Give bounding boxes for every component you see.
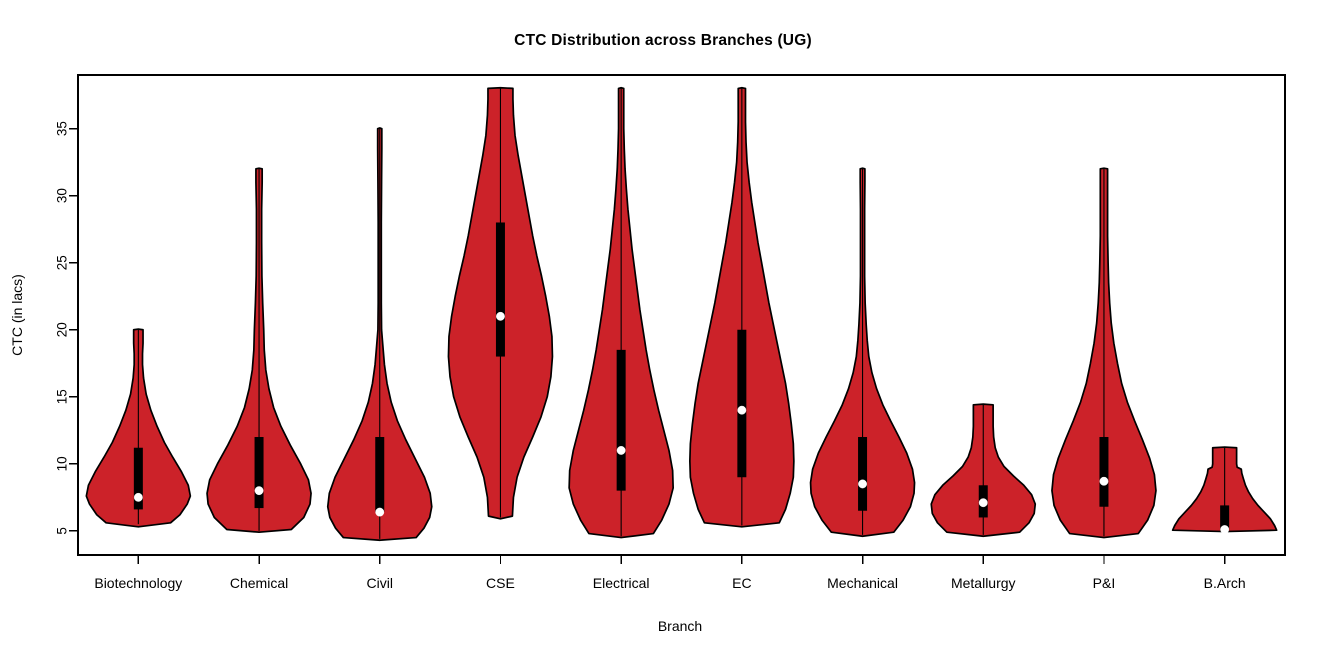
x-tick-label-ec: EC bbox=[732, 575, 751, 591]
x-tick-label-civil: Civil bbox=[367, 575, 393, 591]
violin-median-point bbox=[1100, 477, 1108, 485]
violin-iqr-box bbox=[737, 330, 746, 477]
x-tick-label-chemical: Chemical bbox=[230, 575, 288, 591]
violin-iqr-box bbox=[617, 350, 626, 491]
y-tick-label: 25 bbox=[55, 255, 70, 270]
violin-median-point bbox=[496, 312, 504, 320]
violin-iqr-box bbox=[255, 437, 264, 508]
violin-plot-figure: CTC Distribution across Branches (UG) CT… bbox=[0, 0, 1327, 653]
y-tick-label: 35 bbox=[55, 121, 70, 136]
violin-median-point bbox=[617, 446, 625, 454]
y-tick-label: 20 bbox=[55, 322, 70, 337]
y-tick-label: 30 bbox=[55, 188, 70, 203]
violin-median-point bbox=[979, 499, 987, 507]
x-tick-label-metallurgy: Metallurgy bbox=[951, 575, 1016, 591]
violin-iqr-box bbox=[858, 437, 867, 511]
y-tick-label: 5 bbox=[55, 527, 70, 535]
violin-median-point bbox=[134, 493, 142, 501]
violin-median-point bbox=[376, 508, 384, 516]
x-tick-label-mechanical: Mechanical bbox=[827, 575, 898, 591]
x-tick-label-p-i: P&I bbox=[1093, 575, 1116, 591]
violin-iqr-box bbox=[1099, 437, 1108, 507]
violin-median-point bbox=[1220, 525, 1228, 533]
chart-title: CTC Distribution across Branches (UG) bbox=[514, 32, 812, 49]
y-tick-label: 15 bbox=[55, 389, 70, 404]
x-tick-label-biotechnology: Biotechnology bbox=[94, 575, 182, 591]
chart-canvas: CTC Distribution across Branches (UG) CT… bbox=[0, 0, 1327, 653]
violin-iqr-box bbox=[496, 222, 505, 356]
x-tick-label-cse: CSE bbox=[486, 575, 515, 591]
y-tick-label: 10 bbox=[55, 456, 70, 471]
violin-median-point bbox=[738, 406, 746, 414]
x-tick-label-b-arch: B.Arch bbox=[1204, 575, 1246, 591]
violin-median-point bbox=[255, 486, 263, 494]
violin-iqr-box bbox=[375, 437, 384, 512]
x-axis-title: Branch bbox=[658, 618, 702, 634]
violin-median-point bbox=[858, 480, 866, 488]
y-axis-title: CTC (in lacs) bbox=[9, 274, 25, 356]
x-tick-label-electrical: Electrical bbox=[593, 575, 650, 591]
